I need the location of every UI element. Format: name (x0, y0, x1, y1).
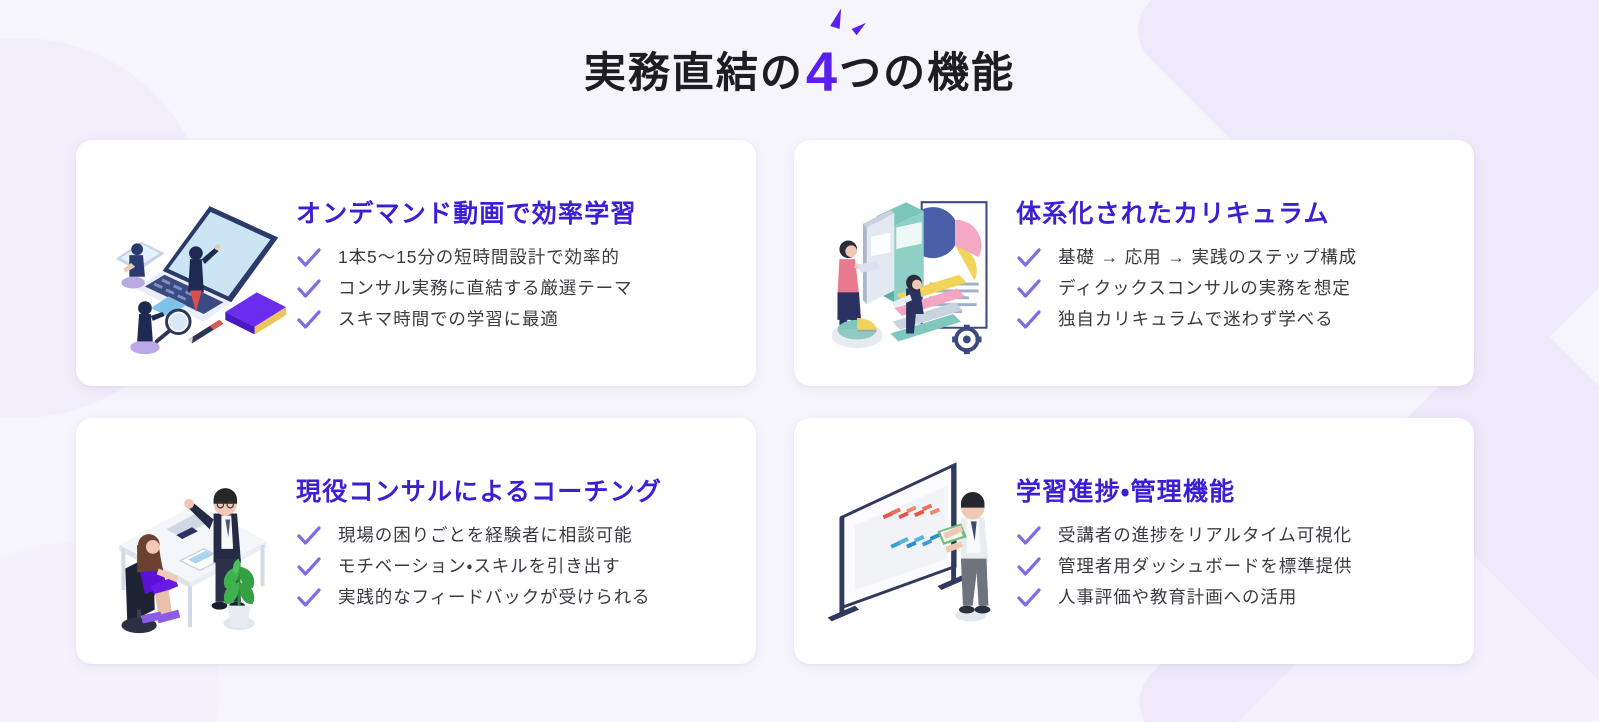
list-item: 基礎 → 応用 → 実践のステップ構成 (1016, 247, 1452, 269)
list-item: 1本5〜15分の短時間設計で効率的 (296, 247, 734, 269)
heading-suffix: つの機能 (839, 49, 1015, 96)
check-icon (296, 309, 322, 331)
check-icon (296, 587, 322, 609)
check-icon (1016, 278, 1042, 300)
card-body: 学習進捗・管理機能 受講者の進捗をリアルタイム可視化 管理者用ダッシュボードを標… (1014, 473, 1452, 608)
card-title: 学習進捗・管理機能 (1016, 477, 1452, 508)
card-body: オンデマンド動画で効率学習 1本5〜15分の短時間設計で効率的 コンサル実務に直… (296, 195, 734, 330)
feature-list: 現場の困りごとを経験者に相談可能 モチベーション・スキルを引き出す 実践的なフィ… (296, 525, 734, 609)
feature-text: 現場の困りごとを経験者に相談可能 (338, 525, 632, 546)
feature-text: スキマ時間での学習に最適 (338, 309, 559, 330)
check-icon (1016, 309, 1042, 331)
feature-list: 受講者の進捗をリアルタイム可視化 管理者用ダッシュボードを標準提供 人事評価や教… (1016, 525, 1452, 609)
list-item: 管理者用ダッシュボードを標準提供 (1016, 556, 1452, 578)
feature-text: 基礎 → 応用 → 実践のステップ構成 (1058, 247, 1357, 268)
features-section: 実務直結の4つの機能 (0, 0, 1599, 722)
feature-text: 人事評価や教育計画への活用 (1058, 587, 1297, 608)
feature-card-grid: オンデマンド動画で効率学習 1本5〜15分の短時間設計で効率的 コンサル実務に直… (76, 140, 1474, 664)
list-item: 実践的なフィードバックが受けられる (296, 587, 734, 609)
list-item: 受講者の進捗をリアルタイム可視化 (1016, 525, 1452, 547)
feature-text: 1本5〜15分の短時間設計で効率的 (338, 247, 620, 268)
section-heading: 実務直結の4つの機能 (0, 34, 1599, 101)
list-item: 人事評価や教育計画への活用 (1016, 587, 1452, 609)
feature-card-active-consultant-coaching[interactable]: 現役コンサルによるコーチング 現場の困りごとを経験者に相談可能 モチベーション・… (76, 418, 756, 664)
laptop-elearning-illustration (94, 165, 290, 361)
check-icon (296, 556, 322, 578)
card-body: 体系化されたカリキュラム 基礎 → 応用 → 実践のステップ構成 ディクックスコ… (1014, 195, 1452, 330)
check-icon (296, 247, 322, 269)
feature-text: コンサル実務に直結する厳選テーマ (338, 278, 632, 299)
list-item: モチベーション・スキルを引き出す (296, 556, 734, 578)
feature-text: 管理者用ダッシュボードを標準提供 (1058, 556, 1352, 577)
list-item: 独自カリキュラムで迷わず学べる (1016, 309, 1452, 331)
check-icon (296, 278, 322, 300)
check-icon (1016, 525, 1042, 547)
feature-card-on-demand-video[interactable]: オンデマンド動画で効率学習 1本5〜15分の短時間設計で効率的 コンサル実務に直… (76, 140, 756, 386)
feature-text: 受講者の進捗をリアルタイム可視化 (1058, 525, 1352, 546)
documents-analytics-illustration (812, 165, 1008, 361)
card-body: 現役コンサルによるコーチング 現場の困りごとを経験者に相談可能 モチベーション・… (296, 473, 734, 608)
check-icon (1016, 556, 1042, 578)
list-item: コンサル実務に直結する厳選テーマ (296, 278, 734, 300)
feature-card-progress-management[interactable]: 学習進捗・管理機能 受講者の進捗をリアルタイム可視化 管理者用ダッシュボードを標… (794, 418, 1474, 664)
page-title: 実務直結の4つの機能 (584, 34, 1015, 101)
list-item: スキマ時間での学習に最適 (296, 309, 734, 331)
presentation-board-illustration (812, 443, 1008, 639)
feature-text: ディクックスコンサルの実務を想定 (1058, 278, 1351, 299)
heading-prefix: 実務直結の (584, 49, 804, 96)
heading-number: 4 (804, 40, 839, 103)
feature-list: 1本5〜15分の短時間設計で効率的 コンサル実務に直結する厳選テーマ スキマ時間… (296, 247, 734, 331)
list-item: 現場の困りごとを経験者に相談可能 (296, 525, 734, 547)
sparkle-icon-1 (830, 7, 846, 29)
list-item: ディクックスコンサルの実務を想定 (1016, 278, 1452, 300)
check-icon (296, 525, 322, 547)
card-title: 現役コンサルによるコーチング (296, 477, 734, 508)
feature-text: 独自カリキュラムで迷わず学べる (1058, 309, 1333, 330)
desk-coaching-illustration (94, 443, 290, 639)
feature-list: 基礎 → 応用 → 実践のステップ構成 ディクックスコンサルの実務を想定 独自カ… (1016, 247, 1452, 331)
card-title: 体系化されたカリキュラム (1016, 199, 1452, 230)
check-icon (1016, 587, 1042, 609)
check-icon (1016, 247, 1042, 269)
card-title: オンデマンド動画で効率学習 (296, 199, 734, 230)
sparkle-icon-2 (852, 20, 869, 36)
feature-text: モチベーション・スキルを引き出す (338, 556, 621, 577)
feature-text: 実践的なフィードバックが受けられる (338, 587, 650, 608)
feature-card-structured-curriculum[interactable]: 体系化されたカリキュラム 基礎 → 応用 → 実践のステップ構成 ディクックスコ… (794, 140, 1474, 386)
